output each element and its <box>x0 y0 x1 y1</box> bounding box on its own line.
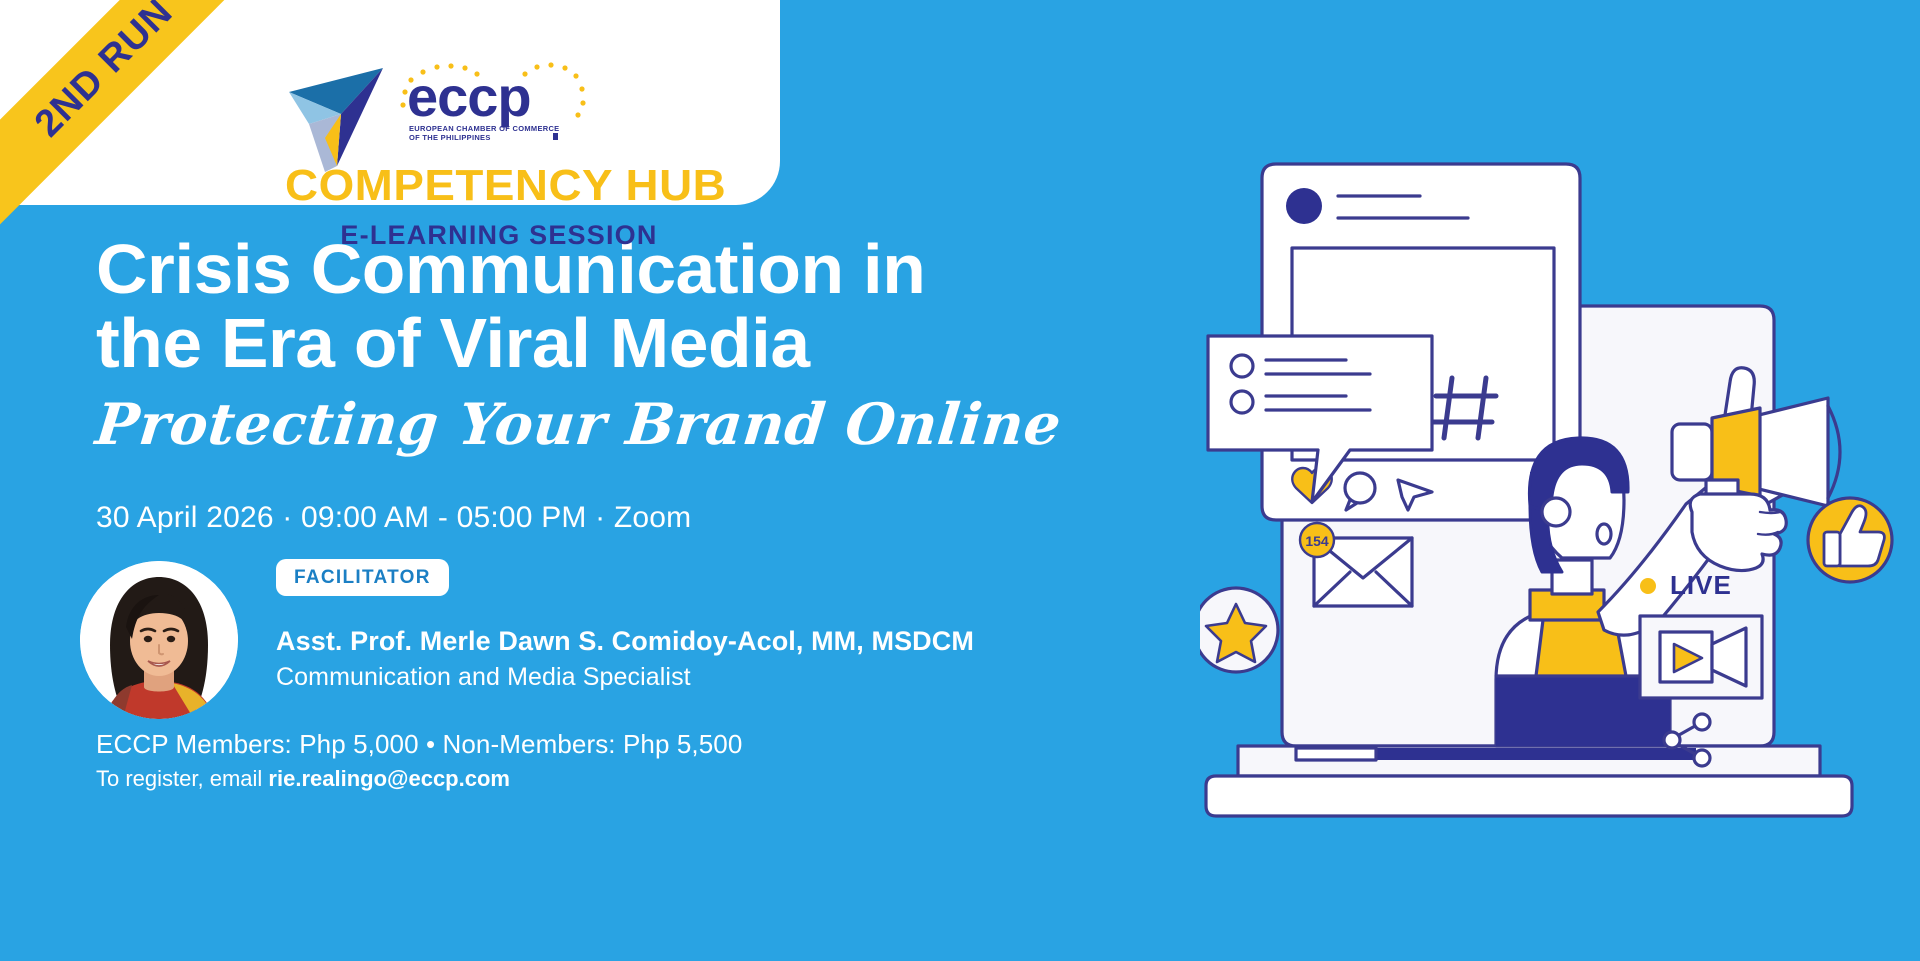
social-media-illustration: 154 <box>1200 120 1920 910</box>
eccp-org-line-2: OF THE PHILIPPINES <box>409 133 491 142</box>
register-line: To register, email rie.realingo@eccp.com <box>96 766 1096 792</box>
facilitator-name: Asst. Prof. Merle Dawn S. Comidoy-Acol, … <box>276 626 974 657</box>
facilitator-section: FACILITATOR Asst. Prof. Merle Dawn S. Co… <box>96 559 1096 719</box>
elearning-session-label: E-LEARNING SESSION <box>289 220 709 251</box>
eccp-wordmark-icon: eccp EUROPEAN CHAMBER OF COMMERCE OF THE… <box>385 58 685 144</box>
avatar <box>80 561 238 719</box>
event-meta: 30 April 2026 · 09:00 AM - 05:00 PM · Zo… <box>96 501 1096 535</box>
eccp-competency-hub-logo: eccp EUROPEAN CHAMBER OF COMMERCE OF THE… <box>285 60 755 215</box>
event-content: Crisis Communication in the Era of Viral… <box>96 232 1096 792</box>
post-avatar-icon <box>1286 188 1322 224</box>
facilitator-role: Communication and Media Specialist <box>276 663 974 692</box>
message-count-label: 154 <box>1305 533 1329 549</box>
svg-text:eccp: eccp <box>407 65 531 128</box>
live-label: LIVE <box>1670 570 1732 600</box>
event-subtitle: Protecting Your Brand Online <box>93 394 1100 457</box>
price-line: ECCP Members: Php 5,000 • Non-Members: P… <box>96 729 1096 760</box>
pricing-section: ECCP Members: Php 5,000 • Non-Members: P… <box>96 729 1096 792</box>
promotional-banner: eccp EUROPEAN CHAMBER OF COMMERCE OF THE… <box>0 0 1920 961</box>
facilitator-info: FACILITATOR Asst. Prof. Merle Dawn S. Co… <box>276 559 974 692</box>
title-line-2: the Era of Viral Media <box>96 306 1116 380</box>
live-dot-icon <box>1640 578 1656 594</box>
register-email[interactable]: rie.realingo@eccp.com <box>268 766 510 791</box>
competency-hub-title: COMPETENCY HUB <box>285 164 774 208</box>
thumbs-up-badge <box>1808 498 1892 582</box>
status-badge: FACILITATOR <box>276 559 449 596</box>
page-title: Crisis Communication in the Era of Viral… <box>96 232 1116 380</box>
video-camera-icon <box>1660 628 1746 686</box>
register-prefix: To register, email <box>96 766 262 791</box>
eccp-org-line-1: EUROPEAN CHAMBER OF COMMERCE <box>409 124 560 133</box>
eccp-paper-plane-icon <box>285 62 395 174</box>
laptop-deck <box>1206 776 1852 816</box>
